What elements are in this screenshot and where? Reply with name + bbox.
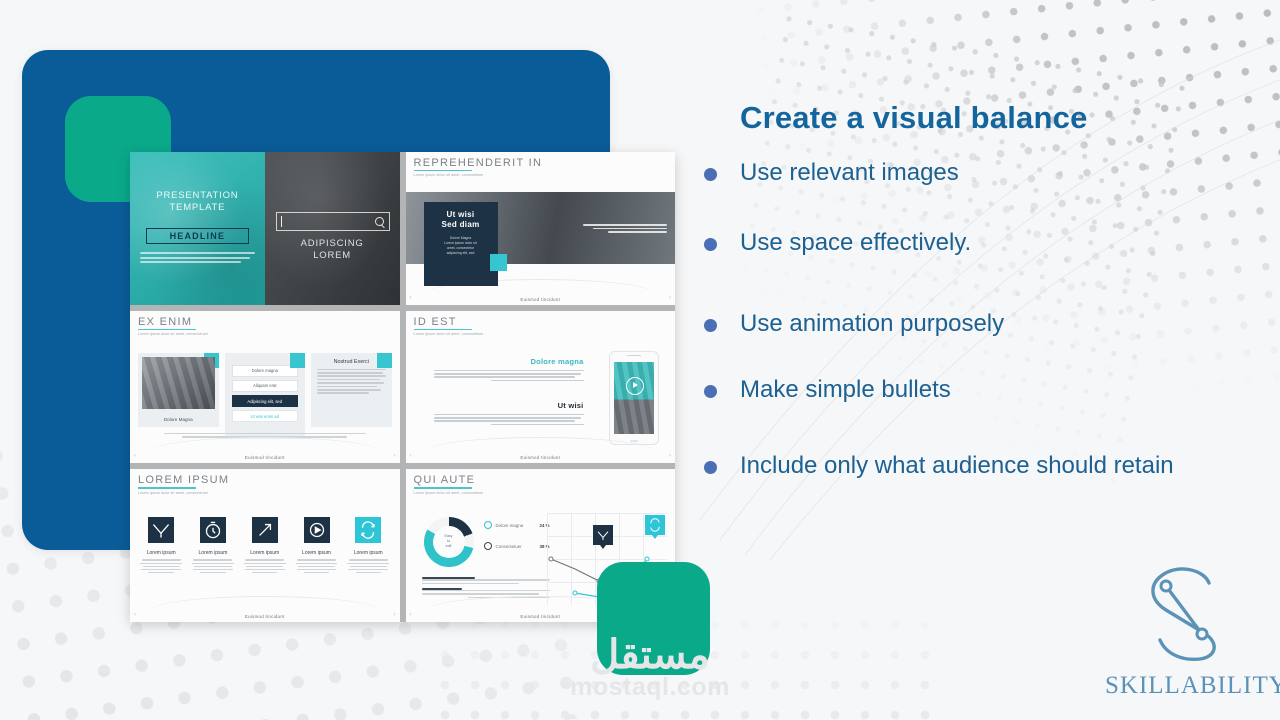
bullet-item: Use relevant images	[700, 158, 1220, 187]
refresh-icon	[355, 517, 381, 543]
block-title: Dolore magna	[434, 357, 584, 366]
title-slide-body-text	[140, 252, 255, 266]
chart-legend: Dolore magna 24 % Consectetuer 38 %	[484, 521, 550, 563]
next-arrow-icon[interactable]: ›	[394, 453, 396, 459]
search-icon	[375, 217, 384, 226]
title-underline	[138, 487, 196, 488]
bullet-item: Use space effectively.	[700, 228, 1220, 257]
list-item-selected[interactable]: Adipiscing elit, sed	[232, 395, 299, 407]
title-underline	[138, 329, 196, 330]
title-slide-heading: PRESENTATION TEMPLATE	[136, 190, 259, 214]
image-caption: Dolore Magna	[138, 417, 219, 422]
slide-title: REPREHENDERIT IN	[414, 157, 668, 169]
title-slide-left-panel: PRESENTATION TEMPLATE HEADLINE	[130, 152, 265, 305]
block-title: Ut wisi	[434, 401, 584, 410]
phone-mockup	[609, 351, 659, 445]
panel-body-text	[311, 369, 392, 394]
bullet-dot-icon	[704, 461, 717, 474]
play-circle-icon	[304, 517, 330, 543]
chart-marker-icon	[645, 515, 665, 535]
bullet-item: Include only what audience should retain	[700, 451, 1220, 480]
content-column: Create a visual balance Use relevant ima…	[700, 100, 1220, 480]
feature-tile[interactable]: Lorem ipsum	[244, 517, 286, 575]
chart-marker-icon	[593, 525, 613, 545]
thumbnail-title-slide[interactable]: PRESENTATION TEMPLATE HEADLINE ADIPISCIN…	[130, 152, 400, 305]
thumbnail-lorem-ipsum-slide[interactable]: LOREM IPSUM Lorem ipsum dolor sit amet, …	[130, 469, 400, 622]
slide-title: QUI AUTE	[414, 474, 668, 486]
bullet-dot-icon	[704, 319, 717, 332]
slide-title: ID EST	[414, 316, 668, 328]
legend-entry: Dolore magna 24 %	[484, 521, 550, 529]
bullet-dot-icon	[704, 238, 717, 251]
legend-entry: Consectetuer 38 %	[484, 542, 550, 550]
stylized-s-node-icon	[1130, 560, 1240, 665]
thumbnail-ex-enim-slide[interactable]: EX ENIM Lorem ipsum dolor sit amet, cons…	[130, 311, 400, 464]
brand-logo: SKILLABILITY	[1105, 560, 1265, 700]
card-body-text: Dolore MagnaLorem ipsum dolor sitamet, c…	[430, 236, 492, 256]
thumbnail-reprehenderit-slide[interactable]: REPREHENDERIT IN Lorem ipsum dolor sit a…	[406, 152, 676, 305]
title-slide-headline-box: HEADLINE	[146, 228, 249, 244]
growth-arrow-icon	[252, 517, 278, 543]
next-arrow-icon[interactable]: ›	[394, 612, 396, 618]
slide-footer: Euismod tincidunt	[130, 455, 400, 460]
arrow-chip-icon	[490, 254, 507, 271]
bullet-dot-icon	[704, 385, 717, 398]
list-item[interactable]: Dolore magna	[232, 365, 299, 377]
list-item[interactable]: Ut wisi enim ad	[232, 410, 299, 422]
bullet-item: Make simple bullets	[700, 375, 1220, 404]
slide-subtitle: Lorem ipsum dolor sit amet, consectetuer	[138, 491, 392, 495]
donut-center-label: Easy to edit	[424, 534, 474, 548]
title-underline	[414, 170, 472, 171]
title-slide-right-panel: ADIPISCING LOREM	[265, 152, 400, 305]
title-slide-right-heading: ADIPISCING LOREM	[265, 238, 400, 262]
bullet-dot-icon	[704, 168, 717, 181]
slide-subtitle: Lorem ipsum dolor sit amet, consectetuer	[414, 173, 668, 177]
donut-chart: Easy to edit	[424, 517, 474, 567]
list-item[interactable]: Aliquam erat	[232, 380, 299, 392]
slide-footer: Euismod tincidunt	[406, 455, 676, 460]
content-block-1: Dolore magna	[434, 357, 584, 384]
slide-title: LOREM IPSUM	[138, 474, 392, 486]
feature-tile[interactable]: Lorem ipsum	[140, 517, 182, 575]
block-body-text	[434, 370, 584, 382]
thumbnail-id-est-slide[interactable]: ID EST Lorem ipsum dolor sit amet, conse…	[406, 311, 676, 464]
target-arrow-icon	[148, 517, 174, 543]
bullet-list: Use relevant images Use space effectivel…	[700, 158, 1220, 480]
stopwatch-icon	[200, 517, 226, 543]
feature-tile[interactable]: Lorem ipsum	[347, 517, 389, 575]
column-photo	[142, 357, 215, 409]
column-list: Dolore magna Aliquam erat Adipiscing eli…	[225, 353, 306, 439]
slide-subtitle: Lorem ipsum dolor sit amet, consectetuer	[414, 332, 668, 336]
document-chip-icon	[377, 353, 392, 368]
title-underline	[414, 487, 472, 488]
share-chip-icon	[290, 353, 305, 368]
title-underline	[414, 329, 472, 330]
next-arrow-icon[interactable]: ›	[669, 295, 671, 301]
slide-thumbnail-grid: PRESENTATION TEMPLATE HEADLINE ADIPISCIN…	[130, 152, 675, 622]
column-text: Nostrud Exerci	[311, 353, 392, 427]
page-title: Create a visual balance	[740, 100, 1220, 136]
slide-footer: Euismod tincidunt	[130, 614, 400, 619]
feature-tile[interactable]: Lorem ipsum	[192, 517, 234, 575]
next-arrow-icon[interactable]: ›	[669, 453, 671, 459]
feature-tile[interactable]: Lorem ipsum	[295, 517, 337, 575]
slide-subtitle: Lorem ipsum dolor sit amet, consectetuer	[138, 332, 392, 336]
slide-title: EX ENIM	[138, 316, 392, 328]
slide-footer: Euismod tincidunt	[406, 297, 676, 302]
teal-accent-square-bottom	[597, 562, 710, 675]
content-block-2: Ut wisi	[434, 401, 584, 428]
legend-swatch-icon	[484, 521, 492, 529]
block-body-text	[434, 414, 584, 426]
slide-subtitle: Lorem ipsum dolor sit amet, consectetuer	[414, 491, 668, 495]
bullet-item: Use animation purposely	[700, 309, 1220, 338]
column-image: Dolore Magna	[138, 353, 219, 427]
legend-swatch-icon	[484, 542, 492, 550]
slide-canvas: PRESENTATION TEMPLATE HEADLINE ADIPISCIN…	[0, 0, 1280, 720]
play-icon	[626, 377, 644, 395]
brand-name: SKILLABILITY	[1105, 672, 1265, 700]
photo-overlay-text	[583, 224, 667, 235]
search-input[interactable]	[276, 212, 390, 231]
info-card: Ut wisi Sed diam Dolore MagnaLorem ipsum…	[424, 202, 498, 286]
